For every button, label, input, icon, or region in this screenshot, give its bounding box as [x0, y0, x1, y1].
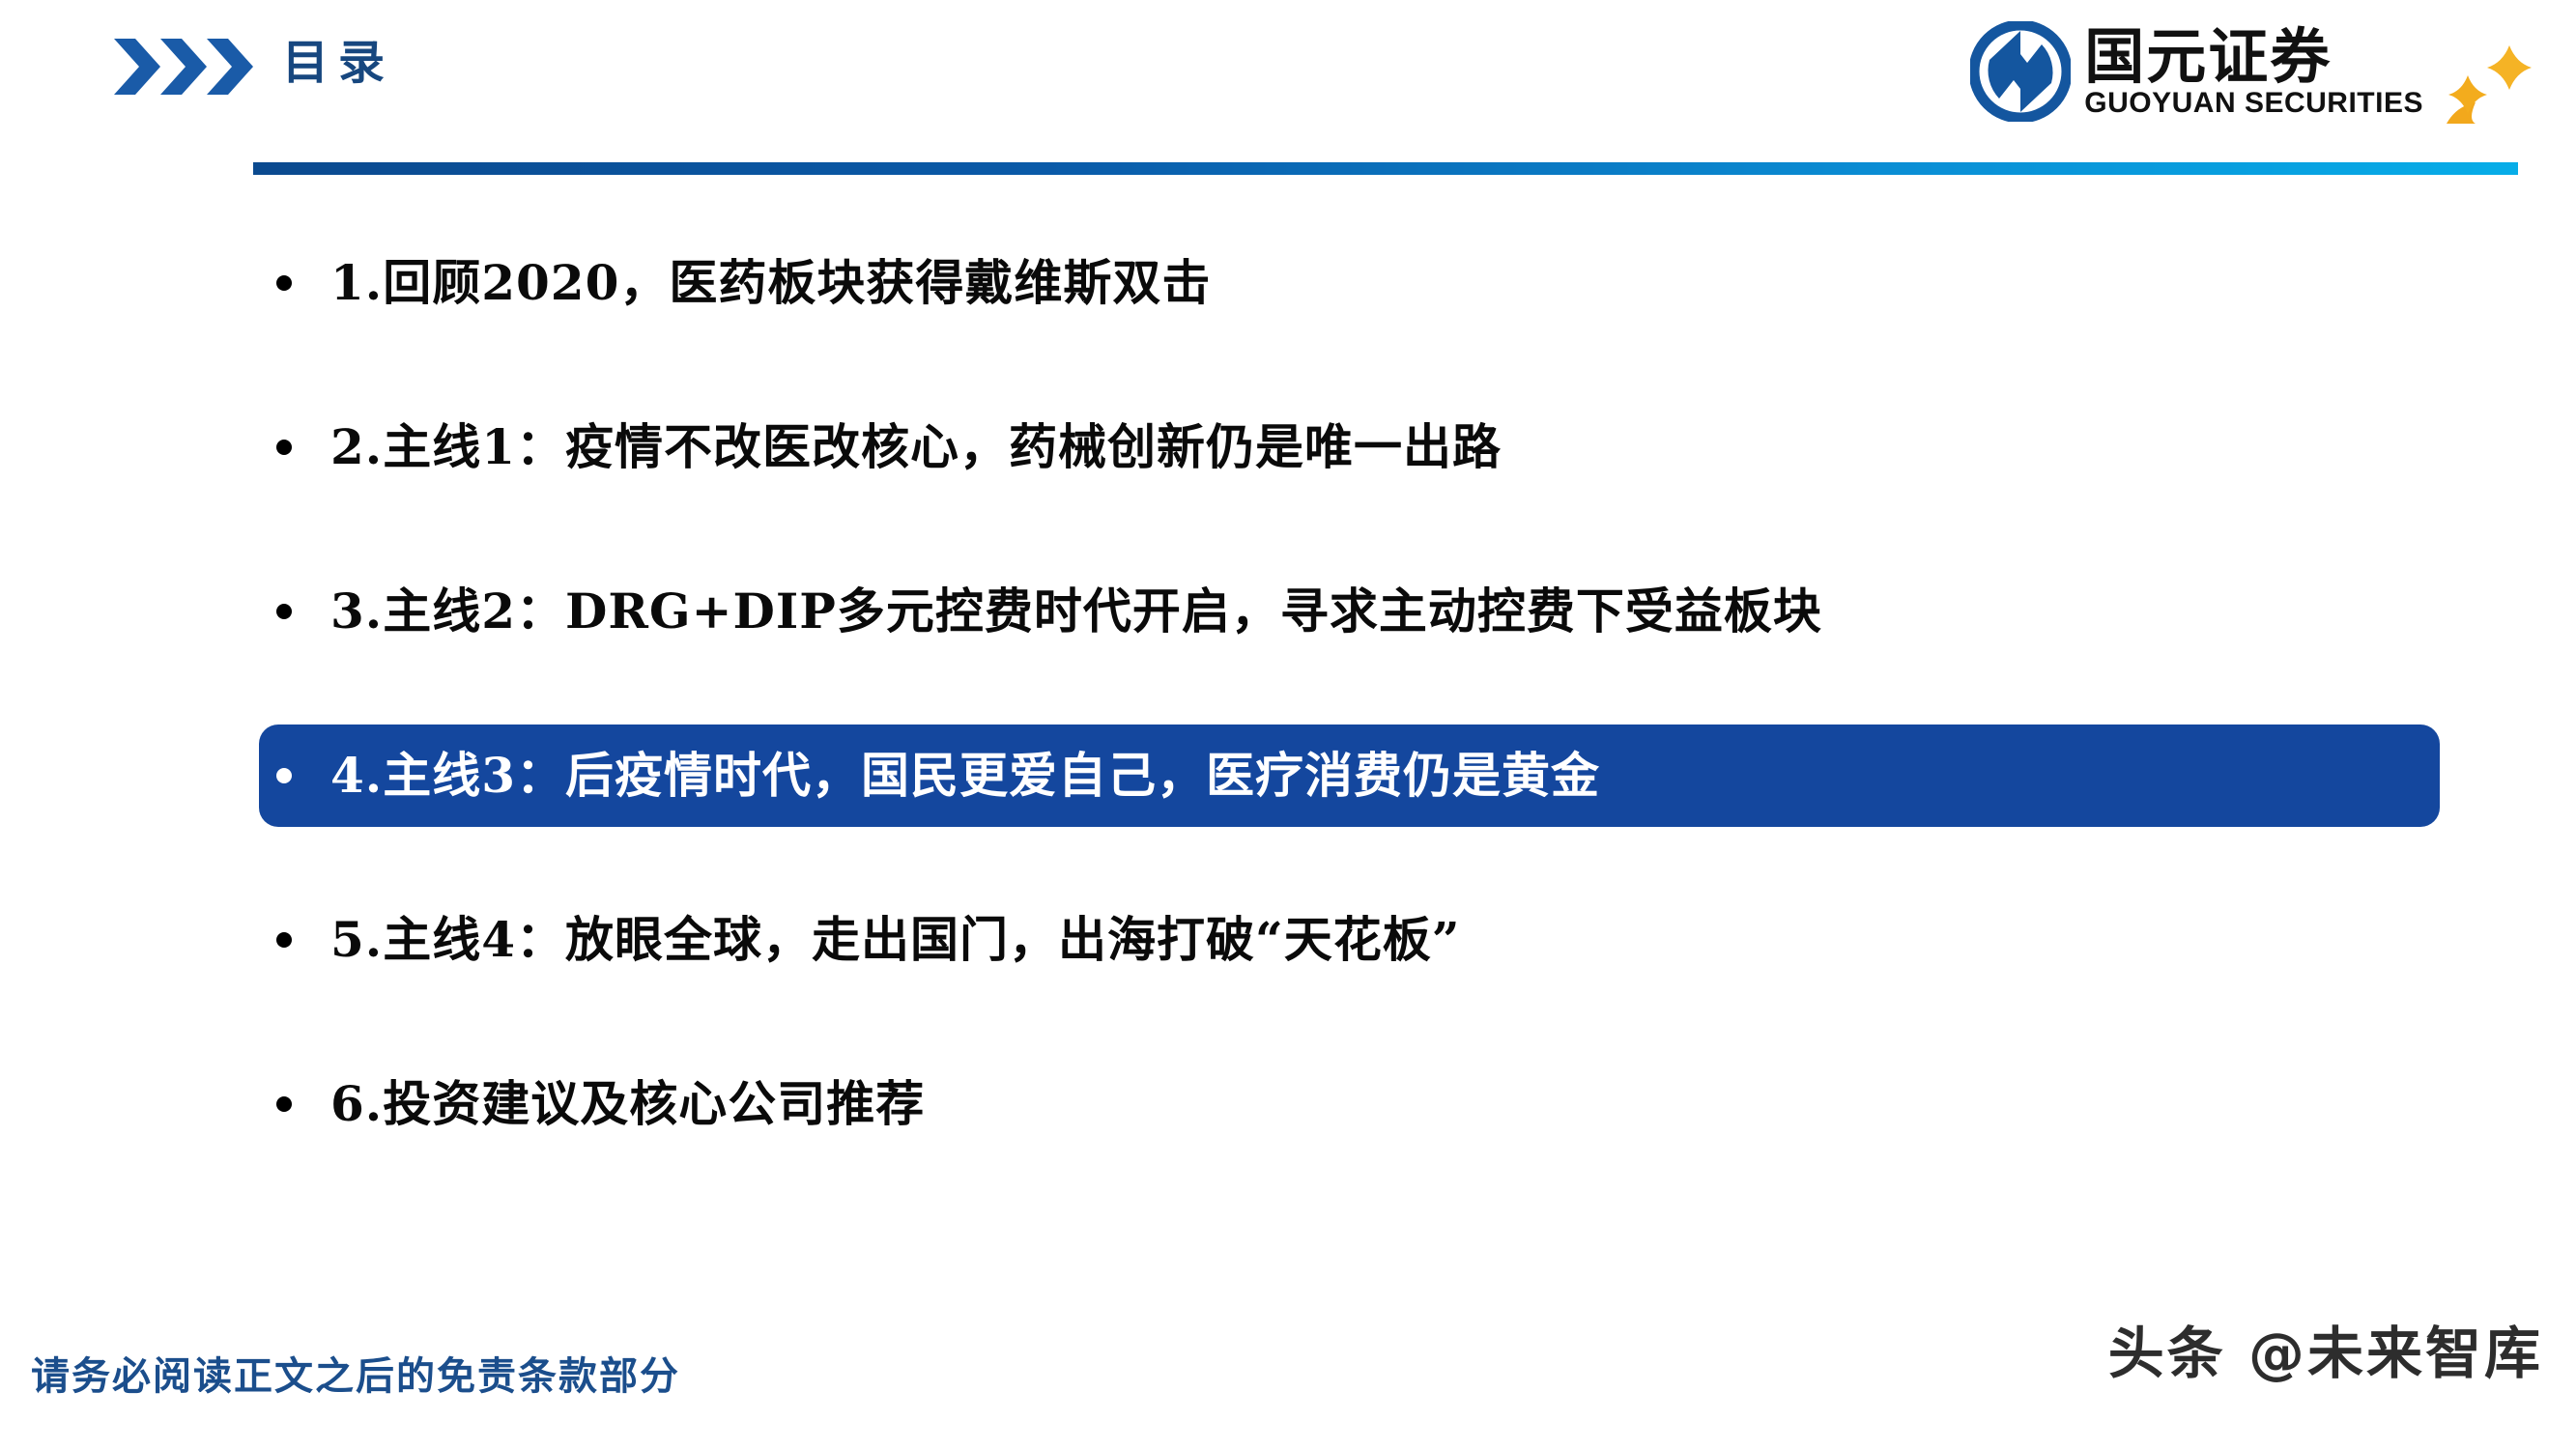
toc-item-3[interactable]: 3.主线2：DRG+DIP多元控费时代开启，寻求主动控费下受益板块 — [0, 560, 2576, 663]
toc-item-label: 2.主线1：疫情不改医改核心，药械创新仍是唯一出路 — [330, 418, 1502, 476]
toc-item-label: 6.投资建议及核心公司推荐 — [330, 1075, 925, 1133]
toc-item-label: 1.回顾2020，医药板块获得戴维斯双击 — [330, 254, 1211, 312]
triple-chevron-right-icon — [114, 37, 259, 97]
watermark-text: 头条 @未来智库 — [2108, 1320, 2543, 1387]
company-logo: 国元证券 GUOYUAN SECURITIES — [1970, 19, 2541, 126]
toc-item-4-active[interactable]: 4.主线3：后疫情时代，国民更爱自己，医疗消费仍是黄金 — [259, 724, 2440, 827]
toc-list: 1.回顾2020，医药板块获得戴维斯双击 2.主线1：疫情不改医改核心，药械创新… — [0, 232, 2576, 1155]
logo-text-block: 国元证券 GUOYUAN SECURITIES — [2084, 25, 2423, 120]
bullet-icon — [276, 932, 292, 948]
bullet-icon — [276, 604, 292, 619]
header-divider — [253, 162, 2518, 175]
toc-item-6[interactable]: 6.投资建议及核心公司推荐 — [0, 1053, 2576, 1155]
logo-name-cn: 国元证券 — [2084, 25, 2423, 89]
three-yellow-diamonds-icon — [2433, 23, 2541, 124]
slide-header: 目录 国元证券 GUOYUAN SECURITIES — [0, 0, 2576, 193]
slide-root: 目录 国元证券 GUOYUAN SECURITIES — [0, 0, 2576, 1449]
page-title: 目录 — [282, 31, 394, 95]
toc-item-5[interactable]: 5.主线4：放眼全球，走出国门，出海打破“天花板” — [0, 889, 2576, 991]
bullet-icon — [276, 768, 292, 783]
guoyuan-circle-emblem-icon — [1970, 21, 2071, 122]
bullet-icon — [276, 440, 292, 455]
disclaimer-note: 请务必阅读正文之后的免责条款部分 — [31, 1350, 680, 1403]
bullet-icon — [276, 1096, 292, 1112]
toc-item-2[interactable]: 2.主线1：疫情不改医改核心，药械创新仍是唯一出路 — [0, 396, 2576, 498]
toc-item-1[interactable]: 1.回顾2020，医药板块获得戴维斯双击 — [0, 232, 2576, 334]
toc-item-label: 3.主线2：DRG+DIP多元控费时代开启，寻求主动控费下受益板块 — [330, 582, 1822, 640]
bullet-icon — [276, 275, 292, 291]
toc-item-label: 4.主线3：后疫情时代，国民更爱自己，医疗消费仍是黄金 — [330, 747, 1600, 805]
logo-name-en: GUOYUAN SECURITIES — [2084, 87, 2423, 120]
toc-item-label: 5.主线4：放眼全球，走出国门，出海打破“天花板” — [330, 911, 1461, 969]
